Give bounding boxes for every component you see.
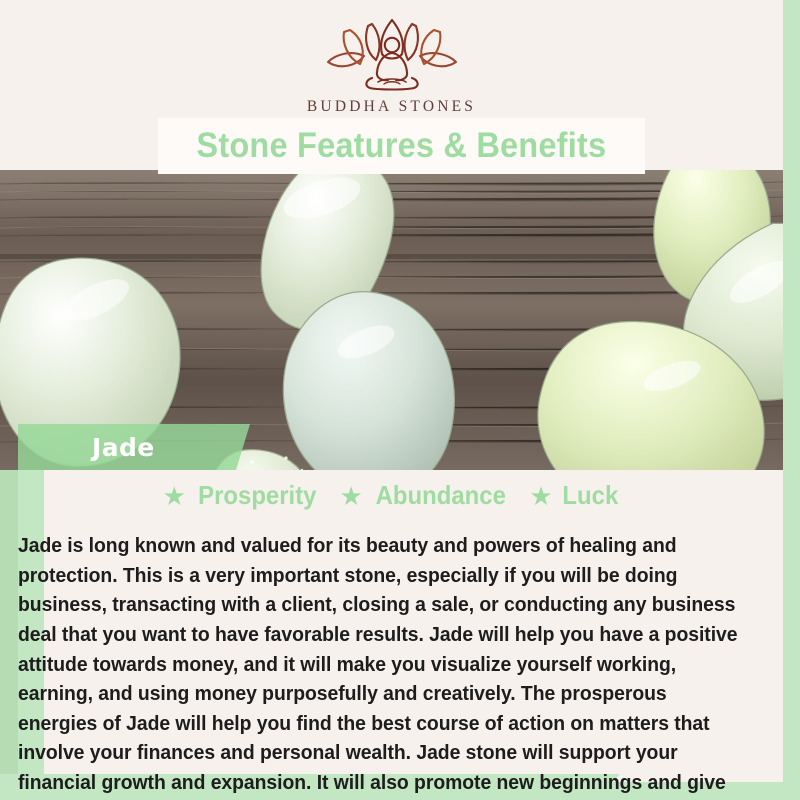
poster: BUDDHA STONES Stone Features & Benefits	[0, 0, 800, 800]
title-band: Stone Features & Benefits	[158, 118, 645, 174]
stone-name-banner: Jade	[18, 424, 250, 470]
benefit-item: ★ Luck	[529, 480, 620, 511]
star-icon: ★	[529, 483, 552, 509]
page-title: Stone Features & Benefits	[197, 126, 607, 166]
benefits-row: ★ Prosperity ★ Abundance ★ Luck	[0, 480, 783, 511]
brand-wordmark: BUDDHA STONES	[0, 98, 783, 116]
benefit-label: Abundance	[375, 480, 505, 511]
frame-accent-right	[783, 0, 800, 470]
benefit-label: Luck	[562, 480, 618, 511]
lotus-meditation-figure-icon	[316, 18, 468, 92]
stone-name: Jade	[18, 433, 155, 462]
brand-logo: BUDDHA STONES	[0, 18, 783, 116]
benefit-item: ★ Prosperity	[163, 480, 322, 511]
stone-description: Jade is long known and valued for its be…	[18, 532, 750, 800]
benefit-label: Prosperity	[198, 480, 316, 511]
star-icon: ★	[340, 483, 363, 509]
benefit-item: ★ Abundance	[340, 480, 512, 511]
star-icon: ★	[163, 483, 186, 509]
